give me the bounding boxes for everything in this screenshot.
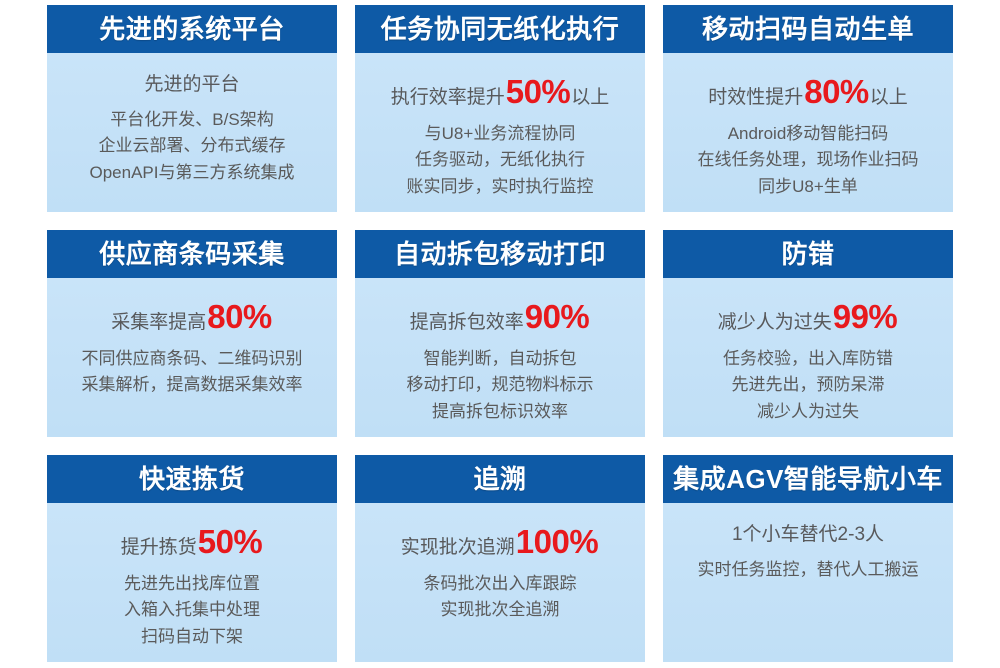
feature-card: 追溯实现批次追溯100%条码批次出入库跟踪实现批次全追溯 [355,455,645,662]
headline-metric-value: 50% [505,75,572,108]
feature-card-detail-line: 采集解析，提高数据采集效率 [82,372,303,398]
feature-card-grid: 先进的系统平台先进的平台平台化开发、B/S架构企业云部署、分布式缓存OpenAP… [0,0,1000,668]
feature-card-detail-line: 同步U8+生单 [698,174,919,200]
feature-card-detail-list: Android移动智能扫码在线任务处理，现场作业扫码同步U8+生单 [698,121,919,200]
feature-card-detail-line: 任务驱动，无纸化执行 [407,147,594,173]
feature-card-detail-line: 实现批次全追溯 [424,597,577,623]
headline-suffix-text: 以上 [571,88,609,107]
feature-card-detail-line: 减少人为过失 [723,399,893,425]
feature-card-body: 减少人为过失99%任务校验，出入库防错先进先出，预防呆滞减少人为过失 [663,278,953,437]
feature-card-detail-list: 与U8+业务流程协同任务驱动，无纸化执行账实同步，实时执行监控 [407,121,594,200]
feature-card-title: 移动扫码自动生单 [663,5,953,53]
headline-prefix-text: 实现批次追溯 [401,538,515,557]
feature-card: 移动扫码自动生单时效性提升80%以上Android移动智能扫码在线任务处理，现场… [663,5,953,212]
headline-prefix-text: 采集率提高 [111,313,206,332]
feature-card-detail-line: 企业云部署、分布式缓存 [90,133,295,159]
feature-card-detail-line: 在线任务处理，现场作业扫码 [698,147,919,173]
feature-card-body: 提高拆包效率90%智能判断，自动拆包移动打印，规范物料标示提高拆包标识效率 [355,278,645,437]
feature-card: 集成AGV智能导航小车1个小车替代2-3人实时任务监控，替代人工搬运 [663,455,953,662]
feature-card-body: 执行效率提升50%以上与U8+业务流程协同任务驱动，无纸化执行账实同步，实时执行… [355,53,645,212]
headline-prefix-text: 时效性提升 [708,88,803,107]
headline-prefix-text: 先进的平台 [144,75,239,94]
feature-card-detail-line: 平台化开发、B/S架构 [90,107,295,133]
headline-prefix-text: 提高拆包效率 [410,313,524,332]
feature-card-title: 任务协同无纸化执行 [355,5,645,53]
feature-card-title: 自动拆包移动打印 [355,230,645,278]
feature-card-detail-line: 账实同步，实时执行监控 [407,174,594,200]
feature-card-headline: 减少人为过失99% [718,300,899,333]
headline-suffix-text: 以上 [870,88,908,107]
feature-card: 任务协同无纸化执行执行效率提升50%以上与U8+业务流程协同任务驱动，无纸化执行… [355,5,645,212]
headline-metric-value: 99% [832,300,899,333]
feature-card: 防错减少人为过失99%任务校验，出入库防错先进先出，预防呆滞减少人为过失 [663,230,953,437]
feature-card: 自动拆包移动打印提高拆包效率90%智能判断，自动拆包移动打印，规范物料标示提高拆… [355,230,645,437]
feature-card-detail-line: 先进先出，预防呆滞 [723,372,893,398]
feature-card-detail-line: 入箱入托集中处理 [124,597,260,623]
feature-card-headline: 采集率提高80% [111,300,273,333]
feature-card-headline: 提高拆包效率90% [410,300,591,333]
feature-card-title: 防错 [663,230,953,278]
feature-card-detail-line: 智能判断，自动拆包 [407,346,594,372]
feature-card-detail-line: 条码批次出入库跟踪 [424,571,577,597]
feature-card-detail-line: 任务校验，出入库防错 [723,346,893,372]
feature-card-title: 供应商条码采集 [47,230,337,278]
feature-card-headline: 1个小车替代2-3人 [732,525,884,544]
feature-card-detail-line: 扫码自动下架 [124,624,260,650]
feature-card: 供应商条码采集采集率提高80%不同供应商条码、二维码识别采集解析，提高数据采集效… [47,230,337,437]
headline-prefix-text: 提升拣货 [121,538,197,557]
feature-card-headline: 实现批次追溯100% [401,525,599,558]
feature-card-body: 时效性提升80%以上Android移动智能扫码在线任务处理，现场作业扫码同步U8… [663,53,953,212]
feature-card-detail-list: 先进先出找库位置入箱入托集中处理扫码自动下架 [124,571,260,650]
headline-metric-value: 90% [524,300,591,333]
feature-card-title: 先进的系统平台 [47,5,337,53]
headline-prefix-text: 执行效率提升 [391,88,505,107]
feature-card-detail-list: 智能判断，自动拆包移动打印，规范物料标示提高拆包标识效率 [407,346,594,425]
headline-prefix-text: 1个小车替代2-3人 [732,525,884,544]
feature-card-detail-line: 与U8+业务流程协同 [407,121,594,147]
feature-card-detail-list: 条码批次出入库跟踪实现批次全追溯 [424,571,577,624]
feature-card-body: 实现批次追溯100%条码批次出入库跟踪实现批次全追溯 [355,503,645,662]
feature-card-detail-line: 不同供应商条码、二维码识别 [82,346,303,372]
headline-metric-value: 80% [803,75,870,108]
feature-card-detail-line: 提高拆包标识效率 [407,399,594,425]
headline-metric-value: 100% [515,525,599,558]
feature-card-detail-line: OpenAPI与第三方系统集成 [90,160,295,186]
feature-card-detail-line: 实时任务监控，替代人工搬运 [698,557,919,583]
feature-card-detail-list: 不同供应商条码、二维码识别采集解析，提高数据采集效率 [82,346,303,399]
feature-card-headline: 执行效率提升50%以上 [391,75,610,108]
feature-card-body: 先进的平台平台化开发、B/S架构企业云部署、分布式缓存OpenAPI与第三方系统… [47,53,337,212]
headline-prefix-text: 减少人为过失 [718,313,832,332]
feature-card: 先进的系统平台先进的平台平台化开发、B/S架构企业云部署、分布式缓存OpenAP… [47,5,337,212]
feature-card-detail-list: 平台化开发、B/S架构企业云部署、分布式缓存OpenAPI与第三方系统集成 [90,107,295,186]
feature-card-title: 快速拣货 [47,455,337,503]
feature-card-title: 集成AGV智能导航小车 [663,455,953,503]
feature-card-detail-line: 移动打印，规范物料标示 [407,372,594,398]
feature-card: 快速拣货提升拣货50%先进先出找库位置入箱入托集中处理扫码自动下架 [47,455,337,662]
feature-card-body: 采集率提高80%不同供应商条码、二维码识别采集解析，提高数据采集效率 [47,278,337,437]
feature-card-body: 1个小车替代2-3人实时任务监控，替代人工搬运 [663,503,953,662]
headline-metric-value: 80% [206,300,273,333]
feature-card-detail-line: Android移动智能扫码 [698,121,919,147]
feature-card-headline: 提升拣货50% [121,525,264,558]
feature-card-headline: 先进的平台 [144,75,239,94]
feature-card-title: 追溯 [355,455,645,503]
headline-metric-value: 50% [197,525,264,558]
feature-card-detail-list: 实时任务监控，替代人工搬运 [698,557,919,583]
feature-card-headline: 时效性提升80%以上 [708,75,908,108]
feature-card-body: 提升拣货50%先进先出找库位置入箱入托集中处理扫码自动下架 [47,503,337,662]
feature-card-detail-line: 先进先出找库位置 [124,571,260,597]
feature-card-detail-list: 任务校验，出入库防错先进先出，预防呆滞减少人为过失 [723,346,893,425]
